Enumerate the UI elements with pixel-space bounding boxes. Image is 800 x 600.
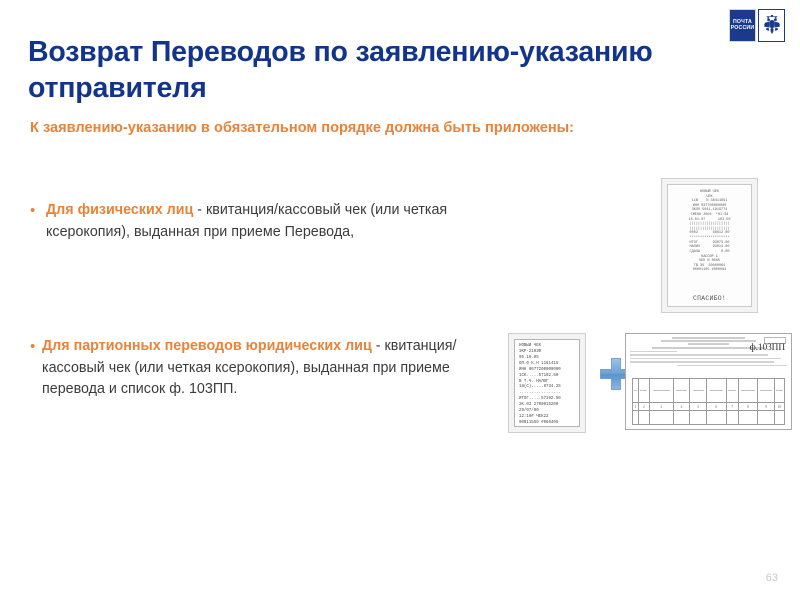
form-table-column: 6 [707, 379, 727, 424]
form-column-header [707, 379, 726, 403]
form-header-rule [652, 347, 765, 349]
form-table-column: 2 [639, 379, 650, 424]
slide-canvas: ПОЧТА РОССИИ [0, 0, 800, 600]
bullet-text-individuals: Для физических лиц - квитанция/кассовый … [46, 200, 482, 243]
form-column-number: 4 [674, 403, 690, 411]
cash-receipt-batch-image: НОВЫЙ ЧЕК ЭКР-2102Ф 05.10.05 ОП.0 К.Н 11… [508, 333, 586, 433]
pochta-rossii-logo: ПОЧТА РОССИИ [729, 9, 785, 42]
form-column-header [690, 379, 706, 403]
page-title: Возврат Переводов по заявлению-указанию … [28, 35, 688, 107]
form-table-column: 4 [674, 379, 691, 424]
form-number-label: ф.103ПП [750, 343, 785, 353]
form-column-number: 9 [758, 403, 774, 411]
form-table-column: 10 [775, 379, 784, 424]
double-headed-eagle-icon [758, 9, 785, 42]
page-number: 63 [766, 572, 778, 584]
form-column-header [775, 379, 784, 403]
form-column-header [633, 379, 638, 403]
form-header-rule [661, 340, 755, 342]
bullet-text-legal-entities: Для партионных переводов юридических лиц… [42, 336, 482, 401]
bullet-marker-icon: • [30, 336, 42, 358]
form-table-column: 5 [690, 379, 707, 424]
bullet-item-individuals: • Для физических лиц - квитанция/кассовы… [30, 200, 482, 243]
form-column-number: 5 [690, 403, 706, 411]
form-header-rule [688, 343, 729, 345]
form-column-number: 1 [633, 403, 638, 411]
receipt-body-text: НОВЫЙ ЧЕК ЭКР-2102Ф 05.10.05 ОП.0 К.Н 11… [519, 344, 575, 427]
form-table-column: 3 [650, 379, 674, 424]
logo-wordmark-line2: РОССИИ [731, 26, 755, 31]
form-column-number: 8 [739, 403, 758, 411]
form-column-header [674, 379, 690, 403]
form-field-rule [630, 361, 774, 362]
form-field-rule [630, 351, 677, 352]
bullet-accent-individuals: Для физических лиц [46, 202, 193, 218]
form-table: 1 2 3 4 5 6 7 [632, 378, 785, 425]
receipt-paper: НОВЫЙ ЧЕК ЧЕК 11В N 38411691 ИНН 0377000… [667, 184, 752, 307]
form-table-column: 7 [727, 379, 739, 424]
form-column-number: 10 [775, 403, 784, 411]
subtitle-text: К заявлению-указанию в обязательном поря… [30, 118, 670, 139]
form-column-number: 7 [727, 403, 738, 411]
form-header-rule [672, 337, 744, 339]
form-column-header [650, 379, 673, 403]
form-column-header [727, 379, 738, 403]
form-table-column: 9 [758, 379, 775, 424]
logo-wordmark: ПОЧТА РОССИИ [729, 9, 756, 42]
bullet-item-legal-entities: • Для партионных переводов юридических л… [30, 336, 482, 401]
form-column-header [639, 379, 649, 403]
form-table-column: 8 [739, 379, 759, 424]
receipt-footer-text: СПАСИБО! [672, 295, 747, 303]
receipt-paper: НОВЫЙ ЧЕК ЭКР-2102Ф 05.10.05 ОП.0 К.Н 11… [514, 339, 580, 427]
cash-receipt-individual-image: НОВЫЙ ЧЕК ЧЕК 11В N 38411691 ИНН 0377000… [661, 178, 758, 313]
bullet-marker-icon: • [30, 200, 46, 222]
form-field-rule [630, 358, 781, 359]
form-column-number: 3 [650, 403, 673, 411]
form-column-number: 2 [639, 403, 649, 411]
receipt-body-text: НОВЫЙ ЧЕК ЧЕК 11В N 38411691 ИНН 0377000… [672, 190, 747, 273]
bullet-accent-legal-entities: Для партионных переводов юридических лиц [42, 338, 372, 354]
form-column-header [739, 379, 758, 403]
form-103pp-document: ф.103ПП 1 2 3 4 [625, 333, 792, 430]
form-field-rule [630, 354, 768, 355]
form-column-number: 6 [707, 403, 726, 411]
form-column-header [758, 379, 774, 403]
form-field-rule [677, 365, 787, 366]
